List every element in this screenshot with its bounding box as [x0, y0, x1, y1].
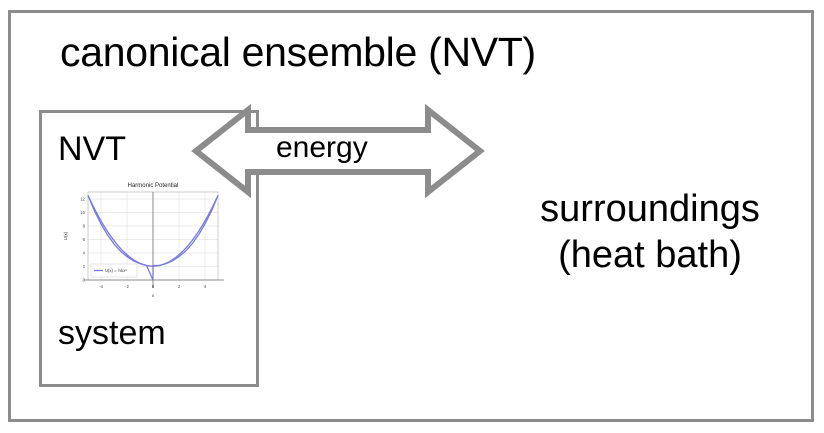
svg-text:10: 10	[80, 210, 85, 215]
chart-legend: U(x) = ½kx²	[91, 264, 137, 277]
surroundings-line-2: (heat bath)	[500, 232, 800, 278]
chart-title: Harmonic Potential	[128, 183, 179, 189]
energy-label: energy	[276, 130, 368, 166]
system-nvt-label: NVT	[58, 129, 126, 169]
page-title: canonical ensemble (NVT)	[60, 28, 536, 76]
svg-text:-2: -2	[125, 284, 129, 289]
chart-ylabel: U(x)	[63, 231, 68, 240]
diagram-canvas: canonical ensemble (NVT) NVT	[0, 0, 824, 433]
surroundings-label: surroundings (heat bath)	[500, 186, 800, 278]
chart-legend-label: U(x) = ½kx²	[105, 268, 127, 273]
svg-text:-4: -4	[99, 284, 103, 289]
svg-text:12: 12	[80, 197, 85, 202]
system-label: system	[58, 313, 166, 353]
surroundings-line-1: surroundings	[500, 186, 800, 232]
